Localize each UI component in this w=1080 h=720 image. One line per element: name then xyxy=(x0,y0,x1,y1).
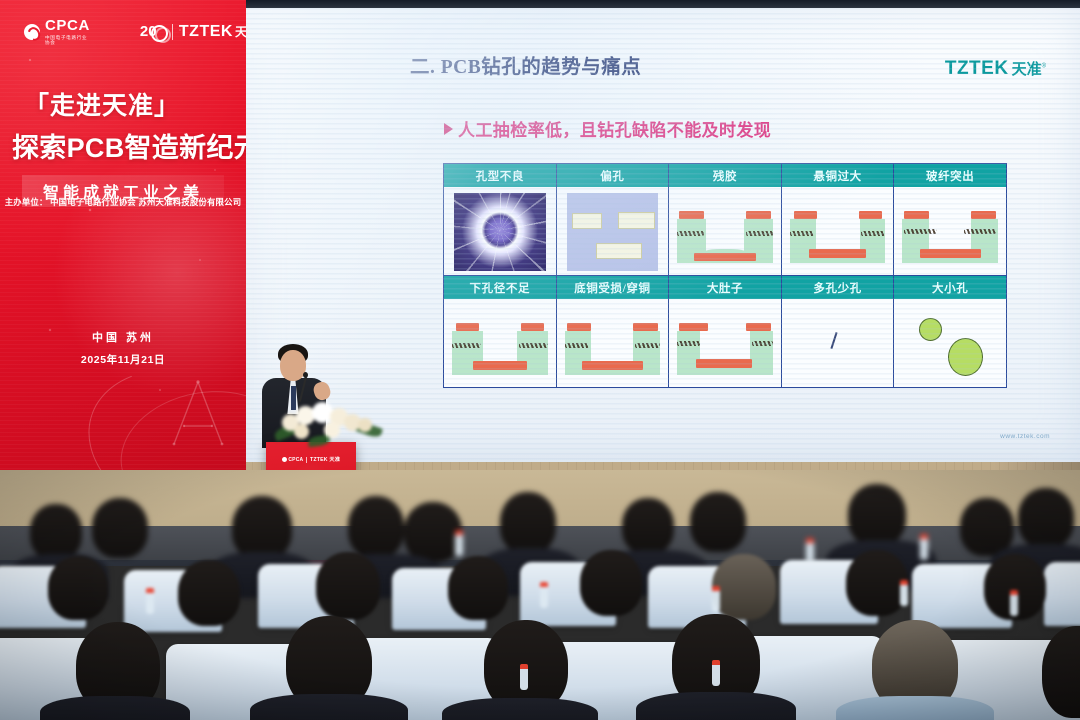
arrow-bullet-icon xyxy=(444,123,453,135)
anniversary-number: 20 xyxy=(140,24,157,39)
banner-headline-2: 探索PCB智造新纪元 xyxy=(12,126,246,165)
defect-diagram-copper-overhang xyxy=(782,187,895,275)
table-body-row-1 xyxy=(444,187,1006,276)
table-header-cell: 孔型不良 xyxy=(444,164,557,187)
banner-headline-1: 「走进天准」 xyxy=(24,86,246,122)
tztek-logo-group: 20 TZTEK天准® xyxy=(140,22,246,42)
table-header-cell: 玻纤突出 xyxy=(894,164,1006,187)
podium-tztek-text: TZTEK 天准 xyxy=(310,456,340,463)
banner-arc-decoration xyxy=(68,343,246,470)
cpca-subtitle: 中国电子电路行业协会 xyxy=(45,36,90,45)
banner-headline-block: 「走进天准」 探索PCB智造新纪元 智能成就工业之美 xyxy=(0,86,246,207)
defect-diagram-glass-fiber-protrusion xyxy=(894,187,1006,275)
podium-logo-divider xyxy=(306,457,307,463)
table-header-cell: 多孔少孔 xyxy=(782,276,895,299)
podium-flower-arrangement xyxy=(272,392,384,450)
defect-image-offset-hole xyxy=(557,187,670,275)
banner-date: 2025年11月21日 xyxy=(0,352,246,367)
defect-diagram-residual-glue xyxy=(669,187,782,275)
banner-arc-decoration-2 xyxy=(111,378,246,470)
defect-image-micrograph xyxy=(444,187,557,275)
defect-diagram-undersized-hole xyxy=(444,299,557,387)
slide-title: 二. PCB钻孔的趋势与痛点 xyxy=(410,50,641,79)
defect-diagram-bottom-copper-damage xyxy=(557,299,670,387)
table-header-row-2: 下孔径不足 底铜受损/穿铜 大肚子 多孔少孔 大小孔 xyxy=(444,276,1006,299)
defect-diagram-barrel-bulge xyxy=(669,299,782,387)
slide-brand-en: TZTEK xyxy=(945,58,1009,79)
cpca-mark-icon xyxy=(24,24,40,40)
table-body-row-2 xyxy=(444,299,1006,387)
logo-divider xyxy=(172,24,173,40)
defect-diagram-missing-extra-hole xyxy=(782,299,895,387)
audience-area xyxy=(0,470,1080,720)
slide-brand-cn: 天准 xyxy=(1012,61,1042,78)
table-header-cell: 大小孔 xyxy=(894,276,1006,299)
table-header-cell: 偏孔 xyxy=(557,164,670,187)
conference-photo-scene: 二. PCB钻孔的趋势与痛点 TZTEK天准® 人工抽检率低，且钻孔缺陷不能及时… xyxy=(0,0,1080,720)
table-header-cell: 悬铜过大 xyxy=(782,164,895,187)
table-header-row-1: 孔型不良 偏孔 残胶 悬铜过大 玻纤突出 xyxy=(444,164,1006,187)
podium-cpca-text: CPCA xyxy=(288,457,303,463)
slide-bullet: 人工抽检率低，且钻孔缺陷不能及时发现 xyxy=(444,116,771,141)
slide-brand-logo: TZTEK天准® xyxy=(945,58,1046,80)
speaker-head xyxy=(280,350,306,381)
cpca-logo-text: CPCA xyxy=(45,18,90,33)
event-banner: CPCA 中国电子电路行业协会 20 TZTEK天准® 「走进天准」 探索PCB… xyxy=(0,0,246,470)
defect-table: 孔型不良 偏孔 残胶 悬铜过大 玻纤突出 xyxy=(443,163,1007,388)
defect-diagram-hole-size-variation xyxy=(894,299,1006,387)
tztek-logo: TZTEK天准® xyxy=(179,23,246,41)
banner-city: 中国 苏州 xyxy=(0,329,246,345)
banner-organizer: 主办单位： 中国电子电路行业协会 苏州天准科技股份有限公司 xyxy=(0,196,246,208)
cpca-logo: CPCA 中国电子电路行业协会 xyxy=(24,18,90,45)
tztek-logo-en: TZTEK xyxy=(179,23,233,40)
podium-cpca-mark-icon xyxy=(282,457,287,462)
anniversary-20-icon: 20 xyxy=(140,22,166,42)
banner-logo-row: CPCA 中国电子电路行业协会 20 TZTEK天准® xyxy=(0,10,246,54)
banner-sparkle-texture xyxy=(0,0,246,470)
slide-bullet-text: 人工抽检率低，且钻孔缺陷不能及时发现 xyxy=(458,116,771,141)
banner-headline-3: 智能成就工业之美 xyxy=(22,175,224,207)
table-header-cell: 下孔径不足 xyxy=(444,276,557,299)
podium-cpca-logo: CPCA xyxy=(282,457,303,463)
podium-logo-row: CPCA TZTEK 天准 xyxy=(266,456,356,463)
slide-website-url: www.tztek.com xyxy=(1000,433,1050,440)
slide-brand-reg: ® xyxy=(1042,64,1046,70)
tztek-logo-cn: 天准 xyxy=(235,25,246,39)
table-header-cell: 残胶 xyxy=(669,164,782,187)
banner-a-monogram-icon xyxy=(168,378,228,448)
microphone-head-icon xyxy=(303,372,308,378)
table-header-cell: 大肚子 xyxy=(669,276,782,299)
table-header-cell: 底铜受损/穿铜 xyxy=(557,276,670,299)
